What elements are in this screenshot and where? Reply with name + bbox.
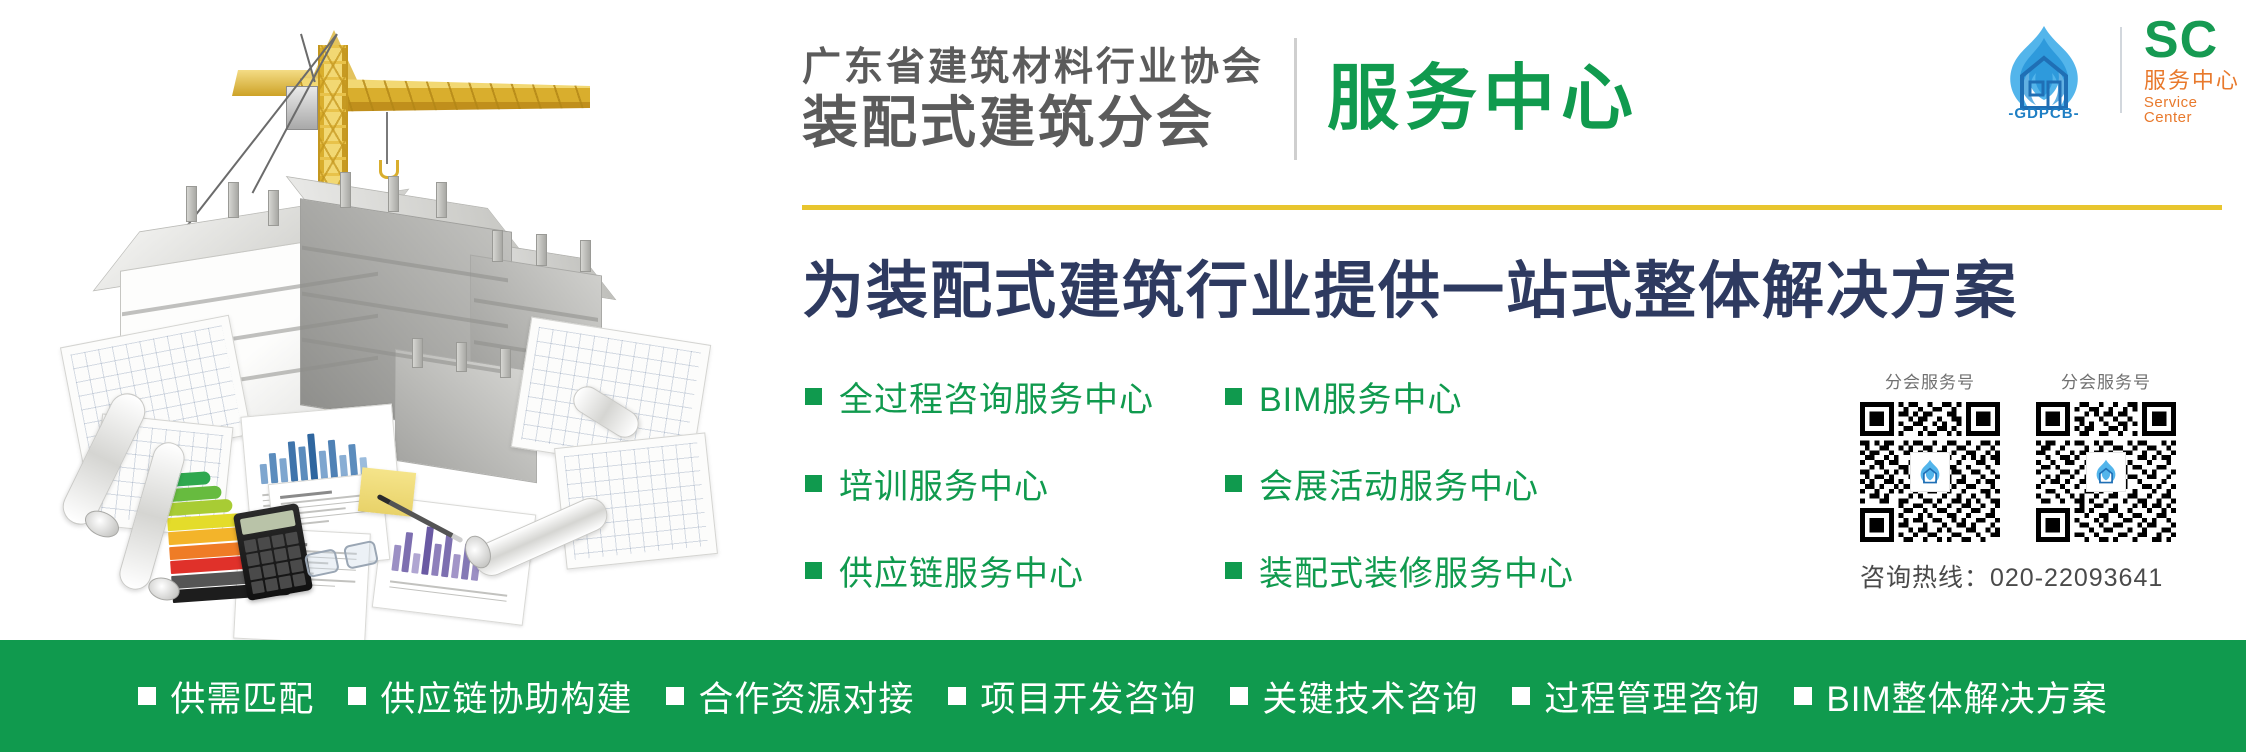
logo-divider (2120, 27, 2122, 113)
logo-cn-text: 服务中心 (2144, 70, 2246, 92)
service-center-heading: 服务中心 (1327, 63, 1639, 135)
service-item-full-process-consulting[interactable]: 全过程咨询服务中心 (805, 372, 1225, 421)
square-bullet-icon (138, 687, 156, 705)
footer-item-label: 关键技术咨询 (1262, 671, 1478, 722)
rebar-column (412, 338, 423, 368)
qr-code-row: 分会服务号 (1860, 368, 2190, 542)
calculator-keys (244, 532, 307, 595)
construction-illustration (0, 0, 700, 640)
qr-caption: 分会服务号 (2036, 368, 2176, 393)
calculator-screen (240, 510, 296, 535)
rebar-column (436, 182, 447, 218)
footer-item-key-technology-consulting[interactable]: 关键技术咨询 (1230, 671, 1478, 722)
square-bullet-icon (1225, 475, 1242, 492)
corner-logo: -GDPCB- SC 服务中心 Service Center (1990, 14, 2246, 125)
service-label: 供应链服务中心 (839, 546, 1084, 595)
footer-bar: 供需匹配 供应链协助构建 合作资源对接 项目开发咨询 关键技术咨询 过程管理咨询 (0, 640, 2246, 752)
qr-code-cell: 分会服务号 (1860, 368, 2000, 542)
footer-item-bim-total-solution[interactable]: BIM整体解决方案 (1794, 671, 2107, 722)
rebar-column (388, 176, 399, 212)
rebar-column (500, 348, 511, 378)
title-divider (1294, 38, 1297, 160)
rebar-column (536, 234, 547, 266)
document-text-lines (389, 580, 507, 605)
qr-code-image-2[interactable] (2036, 402, 2176, 542)
square-bullet-icon (1225, 562, 1242, 579)
footer-item-supply-demand-matching[interactable]: 供需匹配 (138, 671, 314, 722)
qr-center-logo-icon (2086, 452, 2126, 492)
square-bullet-icon (1230, 687, 1248, 705)
footer-item-label: 项目开发咨询 (980, 671, 1196, 722)
square-bullet-icon (805, 475, 822, 492)
square-bullet-icon (805, 388, 822, 405)
square-bullet-icon (1225, 388, 1242, 405)
page-tagline: 为装配式建筑行业提供一站式整体解决方案 (802, 240, 2018, 330)
service-item-exhibition[interactable]: 会展活动服务中心 (1225, 459, 1645, 508)
promotional-banner: -GDPCB- SC 服务中心 Service Center 广东省建筑材料行业… (0, 0, 2246, 752)
service-label: 会展活动服务中心 (1259, 459, 1539, 508)
association-name: 广东省建筑材料行业协会 装配式建筑分会 (802, 48, 1264, 151)
qr-code-cell: 分会服务号 (2036, 368, 2176, 542)
rebar-column (492, 230, 503, 262)
service-label: 培训服务中心 (839, 459, 1049, 508)
gold-divider-rule (802, 205, 2222, 210)
rebar-column (186, 186, 197, 222)
logo-en-text: Service Center (2144, 95, 2246, 125)
illustration-stage (0, 0, 700, 640)
square-bullet-icon (948, 687, 966, 705)
rebar-column (580, 240, 591, 272)
service-item-training[interactable]: 培训服务中心 (805, 459, 1225, 508)
footer-item-label: 供应链协助构建 (380, 671, 632, 722)
footer-item-project-development-consulting[interactable]: 项目开发咨询 (948, 671, 1196, 722)
service-item-bim[interactable]: BIM服务中心 (1225, 372, 1645, 421)
association-line2: 装配式建筑分会 (802, 95, 1264, 151)
footer-item-label: 供需匹配 (170, 671, 314, 722)
logo-abbrev: -GDPCB- (1990, 105, 2098, 122)
footer-item-supply-chain-building[interactable]: 供应链协助构建 (348, 671, 632, 722)
qr-code-block: 分会服务号 (1860, 368, 2190, 594)
square-bullet-icon (1512, 687, 1530, 705)
service-label: 装配式装修服务中心 (1259, 546, 1574, 595)
square-bullet-icon (1794, 687, 1812, 705)
qr-caption: 分会服务号 (1860, 368, 2000, 393)
rebar-column (456, 342, 467, 372)
square-bullet-icon (666, 687, 684, 705)
service-item-prefab-decoration[interactable]: 装配式装修服务中心 (1225, 546, 1645, 595)
square-bullet-icon (348, 687, 366, 705)
association-line1: 广东省建筑材料行业协会 (802, 48, 1264, 87)
footer-item-partner-resources[interactable]: 合作资源对接 (666, 671, 914, 722)
rebar-column (268, 190, 279, 226)
square-bullet-icon (805, 562, 822, 579)
qr-center-logo-icon (1910, 452, 1950, 492)
footer-item-label: 合作资源对接 (698, 671, 914, 722)
footer-item-label: BIM整体解决方案 (1826, 671, 2107, 722)
hotline-text: 咨询热线：020-22093641 (1860, 558, 2190, 594)
footer-item-list: 供需匹配 供应链协助构建 合作资源对接 项目开发咨询 关键技术咨询 过程管理咨询 (138, 671, 2107, 722)
service-item-supply-chain[interactable]: 供应链服务中心 (805, 546, 1225, 595)
qr-code-image-1[interactable] (1860, 402, 2000, 542)
rebar-column (340, 172, 351, 208)
crane-hook-line (386, 112, 388, 164)
service-label: BIM服务中心 (1259, 372, 1462, 421)
rebar-column (228, 182, 239, 218)
house-flame-icon: -GDPCB- (1990, 20, 2098, 120)
footer-item-label: 过程管理咨询 (1544, 671, 1760, 722)
logo-wordmark: SC 服务中心 Service Center (2144, 14, 2246, 125)
logo-sc-text: SC (2144, 14, 2246, 66)
footer-item-process-management-consulting[interactable]: 过程管理咨询 (1512, 671, 1760, 722)
service-label: 全过程咨询服务中心 (839, 372, 1154, 421)
banner-content: -GDPCB- SC 服务中心 Service Center 广东省建筑材料行业… (690, 0, 2246, 640)
title-block: 广东省建筑材料行业协会 装配式建筑分会 服务中心 (802, 38, 1639, 160)
service-list: 全过程咨询服务中心 BIM服务中心 培训服务中心 会展活动服务中心 供应链服务中… (805, 372, 1645, 595)
